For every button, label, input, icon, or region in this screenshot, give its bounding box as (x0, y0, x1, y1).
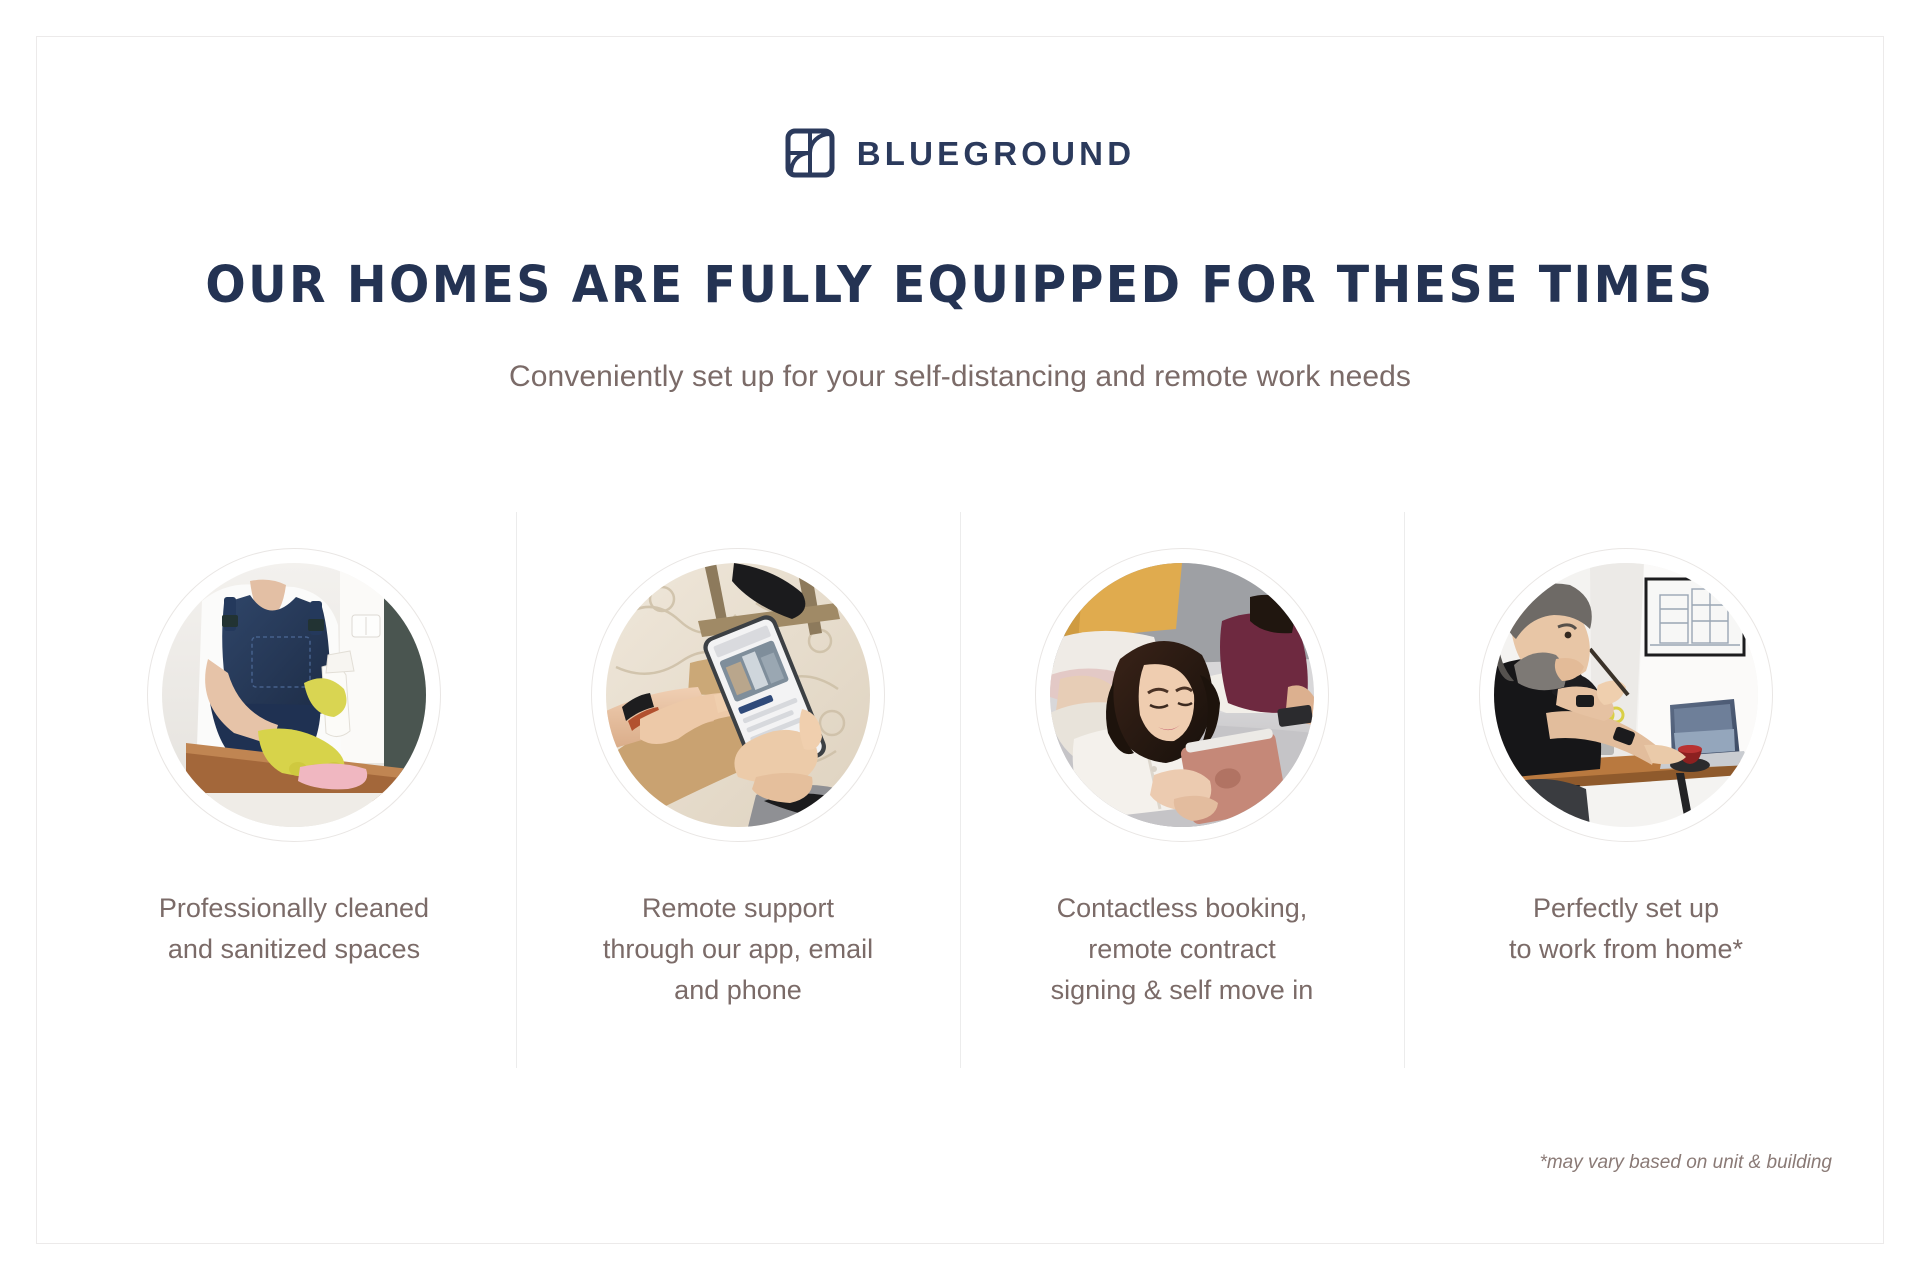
photo-ring (1035, 548, 1329, 842)
feature-card-remote-support: Remote support through our app, email an… (516, 512, 960, 1068)
photo-contactless-booking (1050, 563, 1314, 827)
photo-ring (591, 548, 885, 842)
feature-caption: Remote support through our app, email an… (603, 888, 873, 1011)
feature-caption: Perfectly set up to work from home* (1509, 888, 1743, 970)
photo-ring (1479, 548, 1773, 842)
blueground-square-logo-icon (785, 128, 835, 178)
feature-caption: Contactless booking, remote contract sig… (1051, 888, 1314, 1011)
photo-ring (147, 548, 441, 842)
poster-canvas: BLUEGROUND OUR HOMES ARE FULLY EQUIPPED … (0, 0, 1920, 1280)
footnote-disclaimer: *may vary based on unit & building (1539, 1152, 1832, 1174)
feature-card-contactless-booking: Contactless booking, remote contract sig… (960, 512, 1404, 1068)
page-title: OUR HOMES ARE FULLY EQUIPPED FOR THESE T… (67, 256, 1853, 315)
brand-wordmark: BLUEGROUND (857, 137, 1136, 170)
feature-card-work-from-home: Perfectly set up to work from home* (1404, 512, 1848, 1068)
feature-card-list: Professionally cleaned and sanitized spa… (72, 512, 1848, 1068)
feature-card-cleaning: Professionally cleaned and sanitized spa… (72, 512, 516, 1068)
page-subtitle: Conveniently set up for your self-distan… (0, 360, 1920, 394)
photo-cleaning (162, 563, 426, 827)
feature-caption: Professionally cleaned and sanitized spa… (159, 888, 429, 970)
photo-remote-support (606, 563, 870, 827)
photo-work-from-home (1494, 563, 1758, 827)
brand-logo: BLUEGROUND (0, 128, 1920, 178)
